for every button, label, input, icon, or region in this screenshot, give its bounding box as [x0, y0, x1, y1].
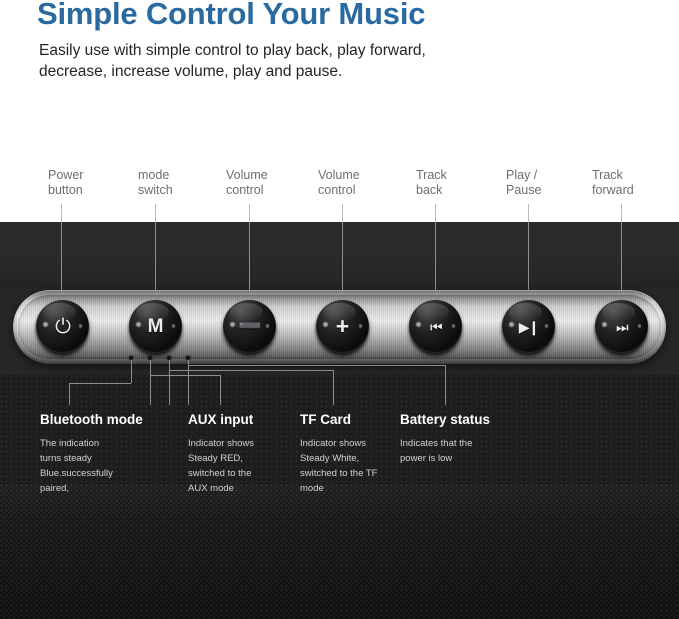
callout-title-bluetooth-mode: Bluetooth mode [40, 412, 143, 427]
callout-title-aux-input: AUX input [188, 412, 253, 427]
page-title: Simple Control Your Music [37, 0, 425, 32]
button-highlight-right [638, 324, 642, 328]
button-highlight-left [416, 322, 421, 327]
callout-body-battery-status: Indicates that the power is low [400, 436, 472, 466]
power-button[interactable]: ⏻ [36, 300, 89, 353]
leader-line-play-pause [528, 204, 529, 223]
page-subtitle: Easily use with simple control to play b… [39, 40, 426, 82]
speaker-grille-mesh [0, 484, 679, 619]
callout-label-play-pause: Play / Pause [506, 168, 541, 198]
button-highlight-left [602, 322, 607, 327]
connector-elbow-battery [188, 365, 445, 405]
volume-down-button[interactable]: ➖ [223, 300, 276, 353]
device-top-bezel [0, 222, 679, 288]
callout-label-track-back: Track back [416, 168, 447, 198]
connector-drop-tf-card [169, 360, 170, 370]
button-highlight-left [230, 322, 235, 327]
track-forward-button[interactable]: ⏭ [595, 300, 648, 353]
button-highlight-left [136, 322, 141, 327]
button-highlight-left [43, 322, 48, 327]
mode-m-icon: M [148, 317, 164, 336]
callout-body-aux-input: Indicator shows Steady RED, switched to … [188, 436, 254, 496]
connector-drop-aux [150, 360, 151, 375]
button-highlight-left [509, 322, 514, 327]
button-highlight-right [545, 324, 549, 328]
previous-track-icon: ⏮ [430, 320, 441, 334]
leader-line-track-back [435, 204, 436, 223]
button-highlight-right [359, 324, 363, 328]
callout-label-power-button: Power button [48, 168, 83, 198]
button-highlight-right [79, 324, 83, 328]
track-back-button[interactable]: ⏮ [409, 300, 462, 353]
infographic-root: Simple Control Your Music Easily use wit… [0, 0, 679, 619]
callout-body-bluetooth-mode: The indication turns steady Blue.success… [40, 436, 113, 496]
connector-vertical-battery [445, 365, 446, 405]
connector-elbow-bluetooth [69, 383, 131, 405]
callout-label-mode-switch: mode switch [138, 168, 173, 198]
callout-title-battery-status: Battery status [400, 412, 490, 427]
connector-drop-bluetooth [131, 360, 132, 383]
callout-body-tf-card: Indicator shows Steady White, switched t… [300, 436, 377, 496]
leader-line-mode-switch [155, 204, 156, 223]
callout-label-volume-down: Volume control [226, 168, 268, 198]
callout-label-track-forward: Track forward [592, 168, 634, 198]
leader-line-power-button [61, 204, 62, 223]
button-highlight-right [172, 324, 176, 328]
play-pause-button[interactable]: ▶❙ [502, 300, 555, 353]
next-track-icon: ⏭ [616, 320, 627, 334]
button-highlight-left [323, 322, 328, 327]
plus-icon: + [336, 315, 349, 338]
button-highlight-right [266, 324, 270, 328]
mode-switch-button[interactable]: M [129, 300, 182, 353]
leader-line-track-forward [621, 204, 622, 223]
callout-label-volume-up: Volume control [318, 168, 360, 198]
minus-icon: ➖ [238, 317, 261, 336]
leader-line-volume-down [249, 204, 250, 223]
button-highlight-right [452, 324, 456, 328]
volume-up-button[interactable]: + [316, 300, 369, 353]
callout-title-tf-card: TF Card [300, 412, 351, 427]
power-icon: ⏻ [55, 317, 70, 337]
play-pause-icon: ▶❙ [519, 320, 539, 334]
leader-line-volume-up [342, 204, 343, 223]
